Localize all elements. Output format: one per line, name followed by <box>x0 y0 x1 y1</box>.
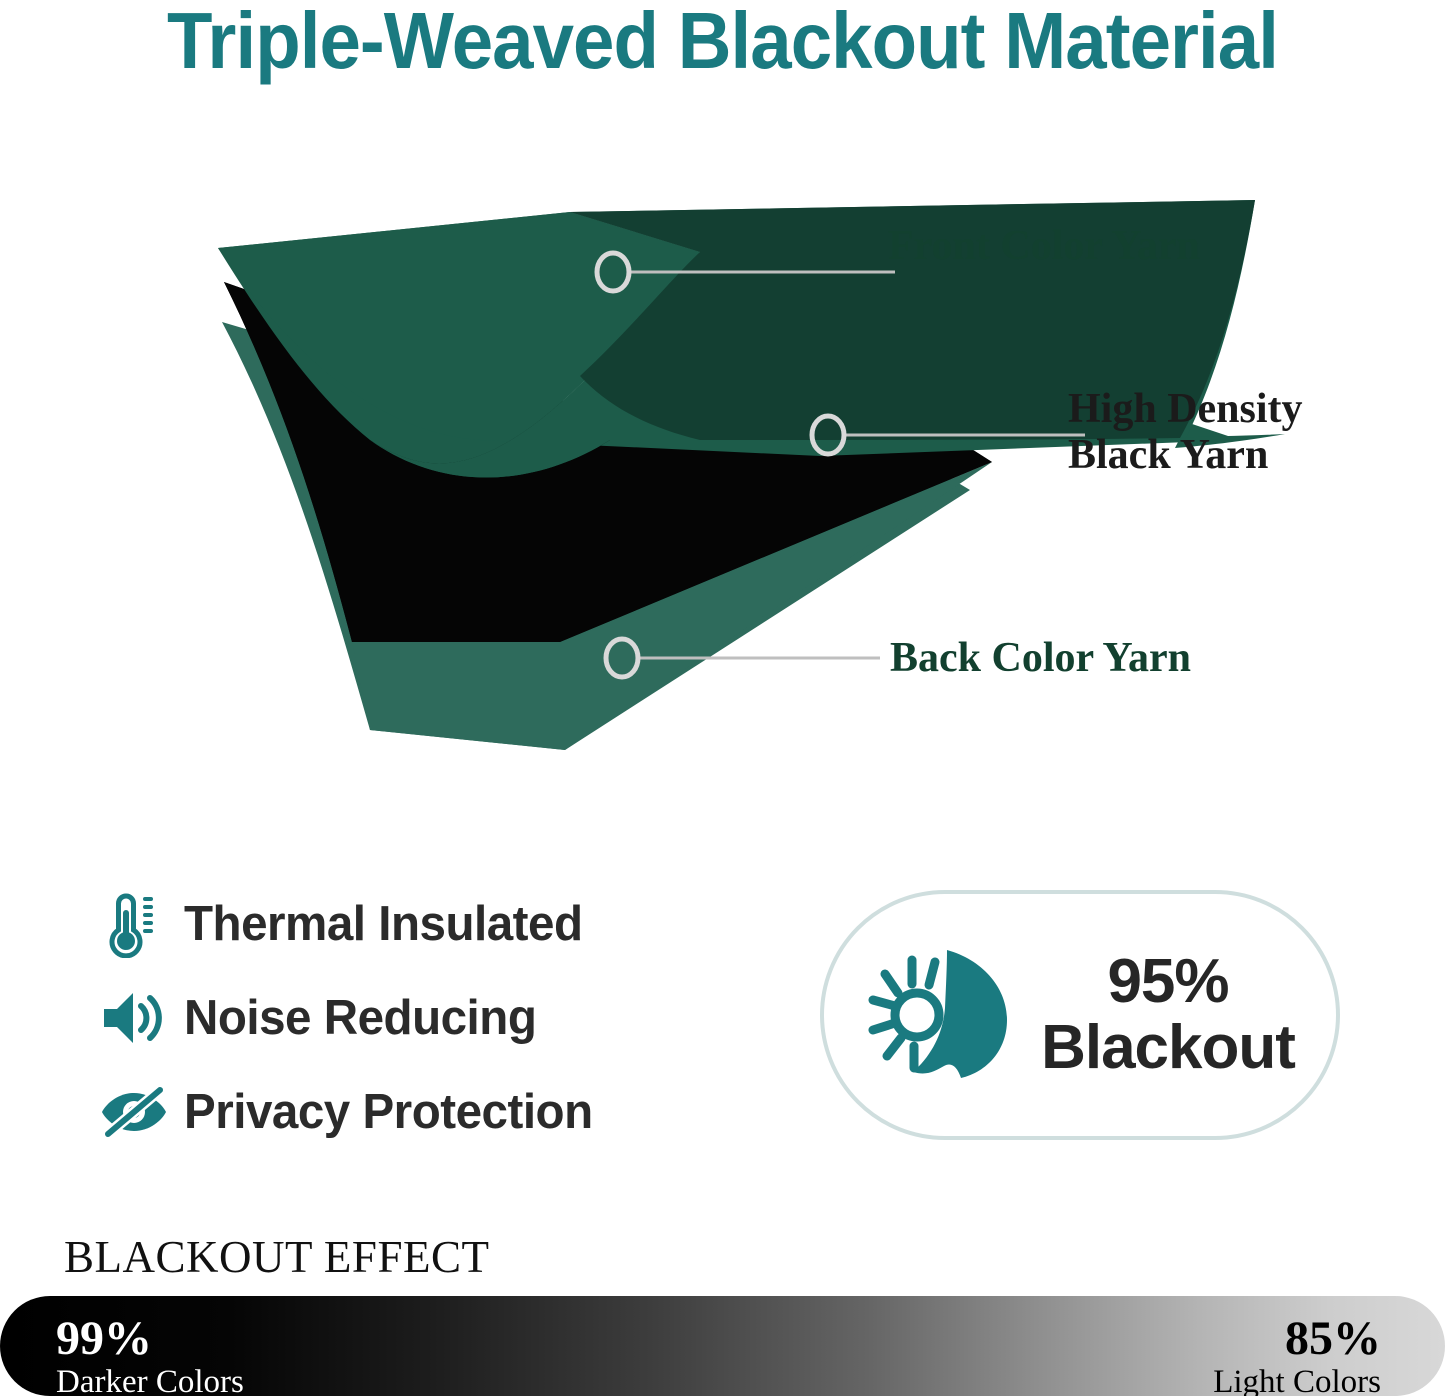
feature-privacy-protection: Privacy Protection <box>100 1068 740 1156</box>
blackout-percentage-badge: 95% Blackout <box>820 890 1340 1140</box>
stat-value: 99% <box>56 1314 244 1364</box>
stat-darker-colors: 99% Darker Colors <box>56 1314 244 1396</box>
feature-noise-reducing: Noise Reducing <box>100 974 740 1062</box>
thermometer-icon <box>100 888 184 960</box>
label-high-density-black-yarn: High Density Black Yarn <box>1068 386 1303 478</box>
eye-off-icon <box>100 1076 184 1148</box>
sun-behind-curtain-icon <box>865 938 1015 1093</box>
stat-caption: Light Colors <box>1213 1364 1381 1396</box>
feature-label: Noise Reducing <box>184 991 536 1045</box>
label-back-color-yarn: Back Color Yarn <box>890 634 1191 682</box>
triple-layer-fabric-diagram <box>180 190 1290 770</box>
infographic-page: Triple-Weaved Blackout Material <box>0 0 1445 1396</box>
feature-label: Privacy Protection <box>184 1085 593 1139</box>
label-front-color-yarn: Front Color Yarn <box>888 222 1200 270</box>
stat-caption: Darker Colors <box>56 1364 244 1396</box>
badge-percent: 95% <box>1041 949 1295 1015</box>
page-title: Triple-Weaved Blackout Material <box>51 0 1395 84</box>
fabric-layers-svg <box>180 190 1290 770</box>
speaker-sound-icon <box>100 982 184 1054</box>
blackout-effect-gradient-bar: 99% Darker Colors 85% Light Colors <box>0 1296 1445 1396</box>
label-black-yarn-line2: Black Yarn <box>1068 432 1303 478</box>
badge-word: Blackout <box>1041 1015 1295 1081</box>
blackout-effect-heading: BLACKOUT EFFECT <box>64 1232 489 1282</box>
feature-list: Thermal Insulated Noise Reducing <box>100 880 740 1162</box>
feature-label: Thermal Insulated <box>184 897 583 951</box>
label-black-yarn-line1: High Density <box>1068 386 1303 432</box>
stat-value: 85% <box>1213 1314 1381 1364</box>
stat-light-colors: 85% Light Colors <box>1213 1314 1381 1396</box>
badge-text: 95% Blackout <box>1041 949 1295 1081</box>
feature-thermal-insulated: Thermal Insulated <box>100 880 740 968</box>
